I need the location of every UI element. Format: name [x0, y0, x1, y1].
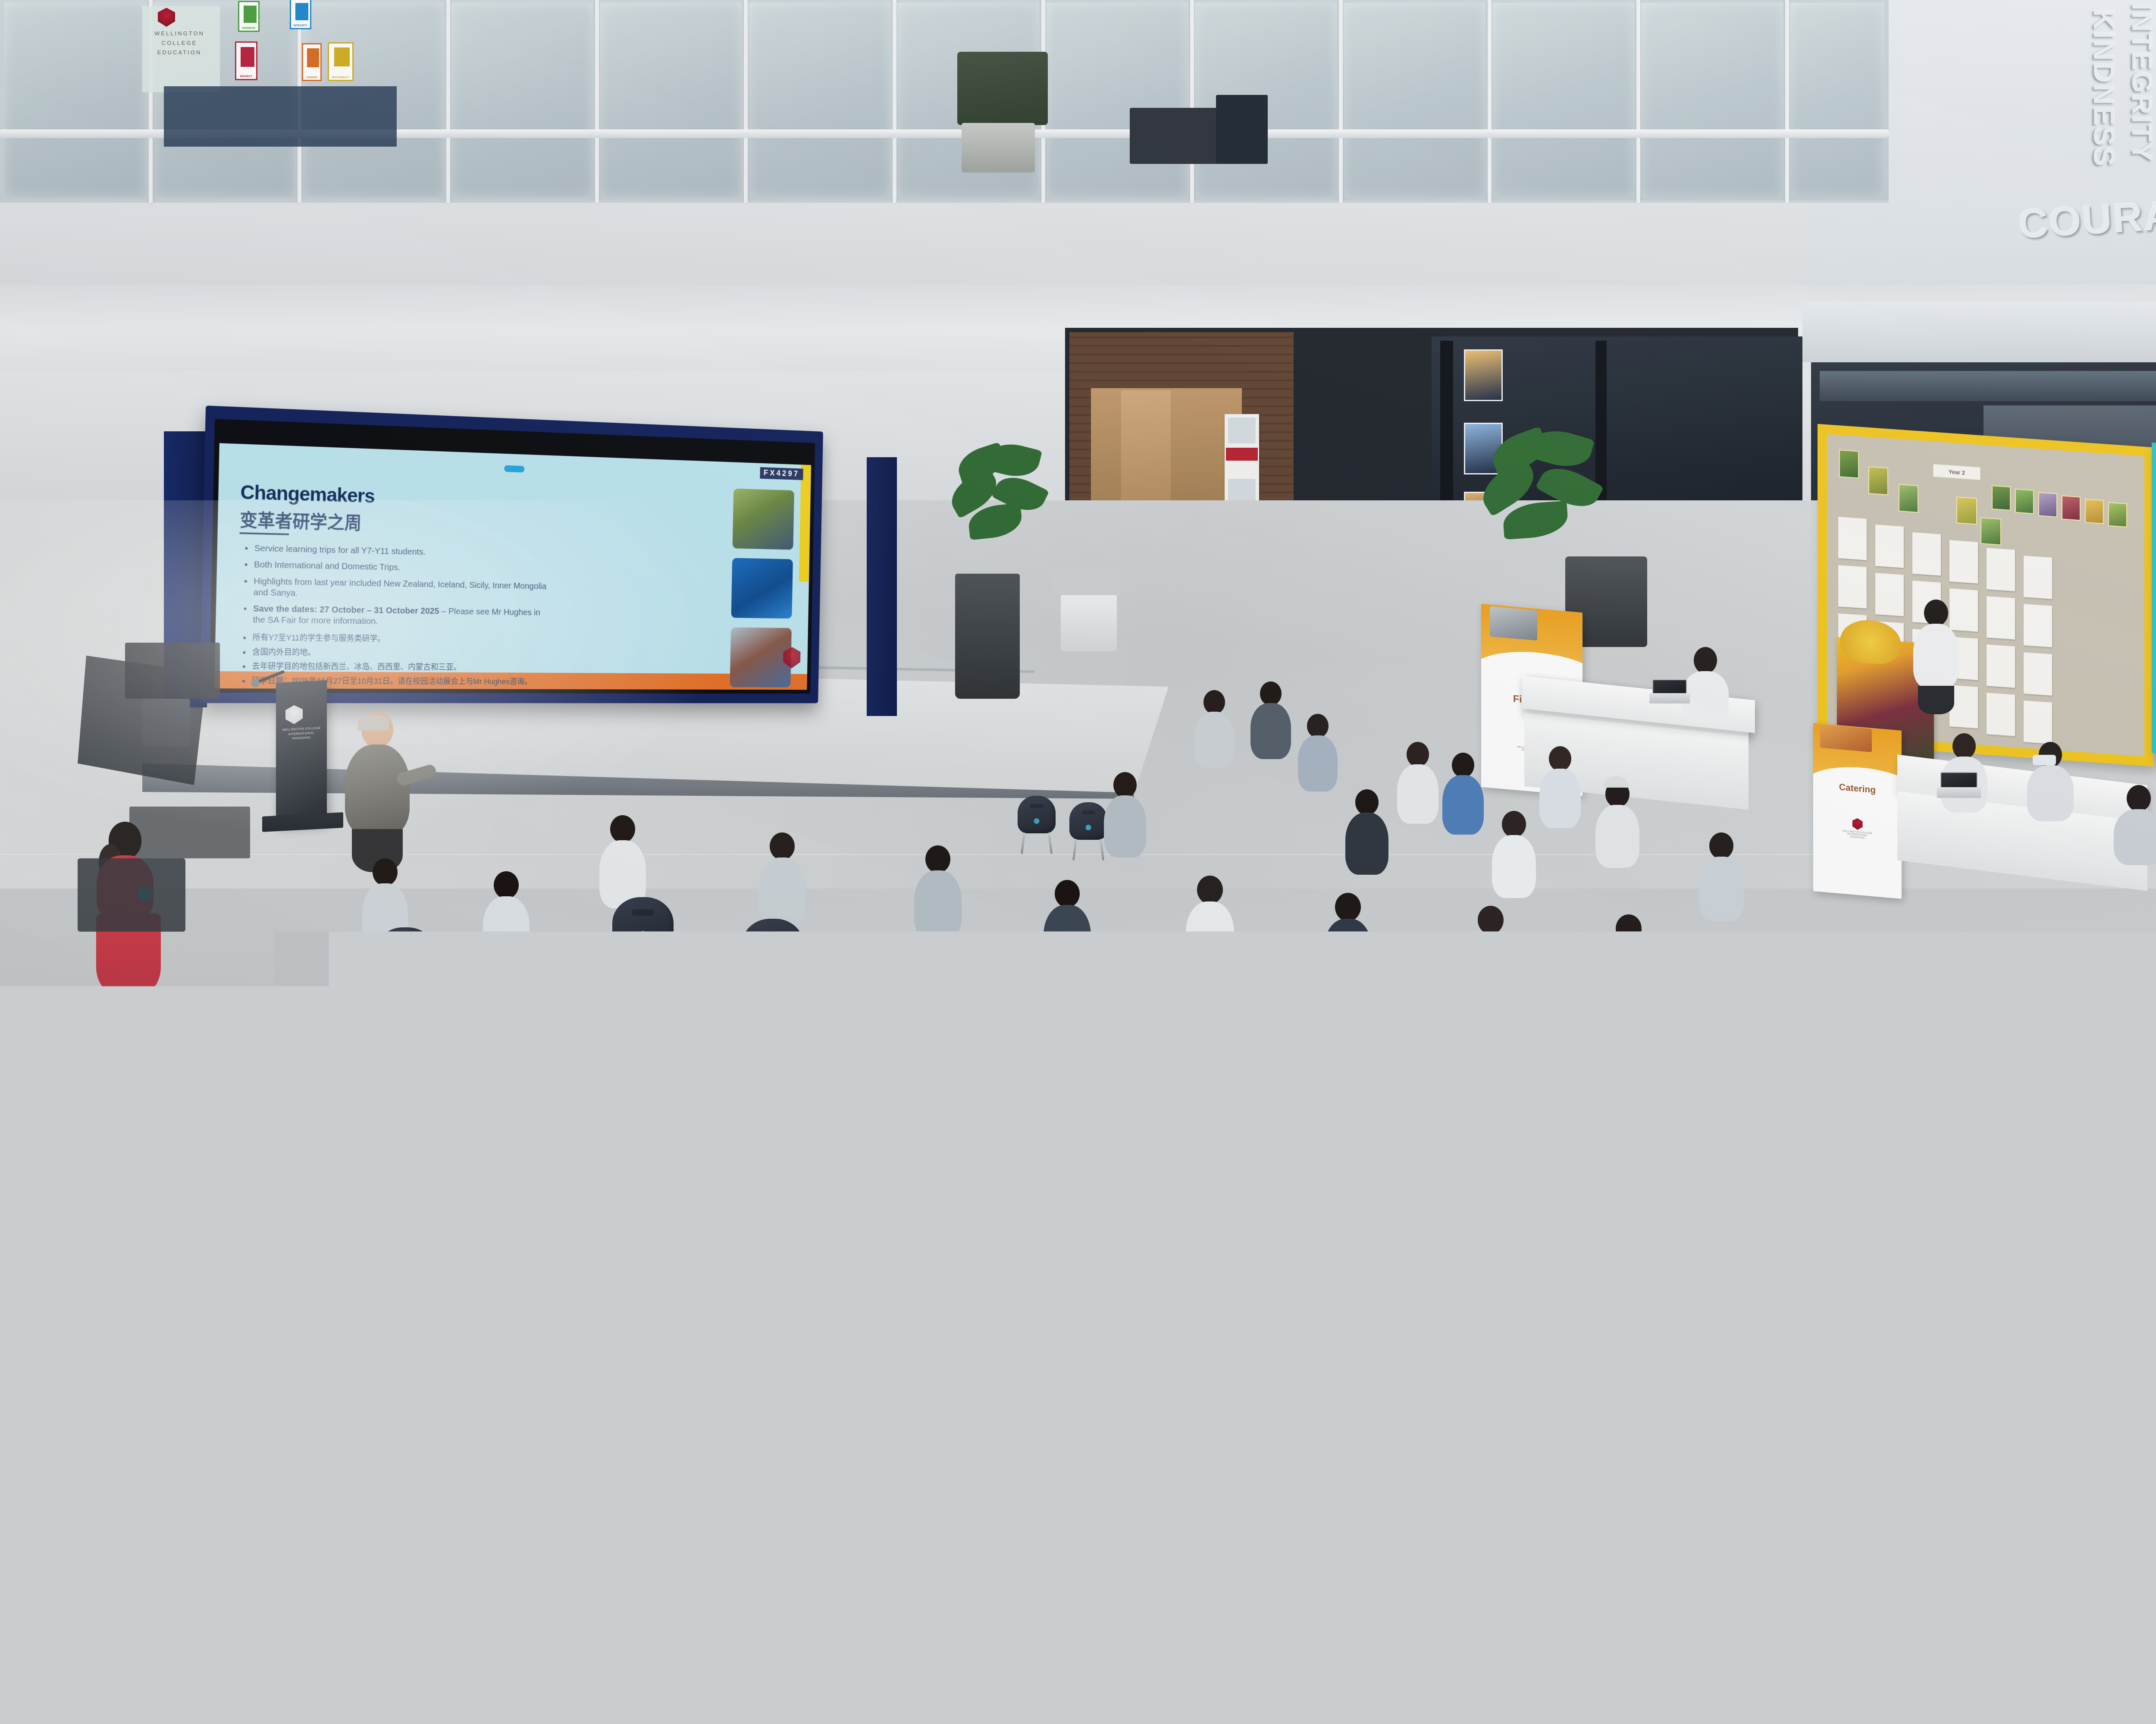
lectern-crest-text: WELLINGTON COLLEGE INTERNATIONAL HANGZHO…: [279, 726, 324, 742]
chair-yellow[interactable]: [1311, 1259, 1390, 1359]
lectern: WELLINGTON COLLEGE INTERNATIONAL HANGZHO…: [276, 680, 327, 825]
alcove-blue-panel: [164, 86, 397, 147]
slide-bullet-dates: Save the dates: 27 October – 31 October …: [242, 603, 548, 629]
av-equipment: [125, 643, 220, 699]
av-monitor: [142, 699, 190, 746]
chair-navy[interactable]: [880, 936, 943, 1015]
chair-yellow[interactable]: [1164, 1320, 1246, 1423]
brand-line-1: WELLINGTON: [145, 30, 214, 37]
slide-bullet-cn: 所有Y7至Y11的学生参与服务类研学。: [241, 633, 548, 646]
audience-member: [436, 962, 487, 1074]
slide-photo-rafting: [731, 558, 793, 619]
audience-member: [914, 845, 962, 947]
audience-member: [1699, 832, 1744, 927]
tote-bag-wellington: WELLINGTON: [414, 1070, 470, 1134]
pedestal-top: [1052, 574, 1121, 595]
value-poster-respect: RESPECT: [235, 41, 257, 80]
chair-yellow[interactable]: [1466, 1333, 1549, 1436]
backpack-dark: [1164, 1070, 1229, 1139]
laptop-upper-table: [1652, 679, 1687, 703]
slide-code-badge: FX4297: [760, 467, 803, 480]
floor-divider: [1350, 1600, 1651, 1605]
wall-letter-kindness: KINDNESS: [2087, 9, 2121, 167]
slide-bullets-english: Service learning trips for all Y7-Y11 st…: [242, 543, 550, 634]
board-label-year2: Year 2: [1933, 464, 1981, 480]
potted-plant-corridor: [1479, 431, 1608, 574]
staff-member-catering-table-2: [2027, 742, 2074, 828]
value-label: RESPECT: [236, 75, 256, 78]
audience-member: [759, 1065, 820, 1196]
chair-yellow[interactable]: [1009, 1350, 1094, 1456]
chair-navy[interactable]: [1307, 992, 1371, 1074]
tote-bag-wellington: WELLINGTON: [1992, 1354, 2057, 1430]
floor-bag-strap: [0, 1570, 39, 1656]
chair-navy[interactable]: [1423, 1057, 1492, 1143]
slide-bullet-cn: 含国内外目的地。: [241, 647, 548, 659]
visitor-by-flower-display: [1912, 600, 1960, 712]
slide-decor-pill: [504, 465, 524, 473]
laptop-catering-table: [1940, 772, 1977, 798]
slide-bullet: Highlights from last year included New Z…: [242, 575, 549, 603]
lectern-crest-icon: [285, 705, 303, 725]
audience-member: [1442, 753, 1484, 839]
audience-member: [1298, 714, 1338, 796]
briefcase: [2065, 1251, 2147, 1320]
audience-member: [1345, 789, 1388, 880]
upper-dark-panel: [1216, 95, 1268, 164]
chair-yellow[interactable]: [2061, 1048, 2136, 1142]
corridor-soffit: [1802, 302, 2156, 362]
chair-navy[interactable]: [987, 1203, 1062, 1297]
chair-navy[interactable]: [1276, 1139, 1348, 1228]
backpack-blue: [565, 1078, 638, 1160]
audience-member: [1708, 1070, 1763, 1187]
pillar-panel: [1121, 390, 1171, 518]
display-board-garden-grow: How Does Your Garden Grow?: [2152, 443, 2156, 778]
audience-member: [1324, 893, 1372, 995]
tote-bag-wellington: WELLINGTON: [1725, 1208, 1789, 1283]
chair-yellow[interactable]: [1130, 1484, 1221, 1598]
audience-member: [1492, 811, 1536, 903]
staff-member-catering-table-3: [2113, 785, 2156, 871]
chair-navy[interactable]: [1164, 975, 1229, 1057]
tent-sign-after-sales[interactable]: 售后区 AFTER SALES SERVICE: [1746, 1580, 1782, 1611]
chair-yellow[interactable]: [1759, 1126, 1833, 1217]
audience-member: [1992, 988, 2043, 1096]
value-poster-kindness: KINDNESS: [238, 1, 260, 32]
chair-navy[interactable]: [496, 953, 557, 1030]
slide-accent-strip-yellow: [799, 465, 811, 582]
slide-photo-service-trip: [733, 489, 794, 550]
brand-line-3: EDUCATION: [145, 49, 214, 56]
white-pedestal: [1061, 587, 1117, 651]
chair-navy[interactable]: [664, 1225, 740, 1320]
chair-yellow[interactable]: [949, 1536, 1041, 1652]
handbag: [384, 1130, 444, 1186]
corridor-rail-upper: [1820, 371, 2156, 401]
audience-member: [1250, 681, 1291, 763]
slide-bullet-cn: 去年研学目的地包括新西兰、冰岛、西西里、内蒙古和三亚。: [241, 662, 548, 674]
slide-bullet: Both International and Domestic Trips.: [243, 559, 549, 576]
banner-catering: Catering WELLINGTON COLLEGEINTERNATIONAL…: [1813, 723, 1902, 899]
slide-bullet-dates-bold: Save the dates: 27 October – 31 October …: [253, 604, 439, 616]
audience-member: [1466, 906, 1515, 1010]
brand-line-2: COLLEGE: [145, 40, 214, 46]
audience-member-foreground: [759, 1208, 832, 1363]
chair-navy[interactable]: [612, 897, 674, 974]
slide-title: Changemakers: [240, 480, 375, 508]
audience-member: [1380, 1143, 1443, 1277]
tote-bag-text: WELLINGTON: [439, 1082, 445, 1125]
chair-navy[interactable]: [1069, 802, 1107, 853]
value-poster-integrity: INTEGRITY: [290, 0, 311, 29]
wellington-brand-poster: WELLINGTON COLLEGE EDUCATION: [142, 6, 220, 92]
slide-bullet: Service learning trips for all Y7-Y11 st…: [243, 543, 549, 560]
audience-member: [1194, 690, 1234, 772]
audience-member: [1733, 940, 1783, 1046]
chair-navy[interactable]: [1022, 966, 1086, 1046]
audience-member: [759, 832, 805, 933]
presentation-screen[interactable]: FX4297 Changemakers 变革者研学之周 Service lear…: [203, 405, 888, 703]
audience-member: [1867, 962, 1917, 1068]
value-poster-courage: COURAGE: [302, 43, 322, 81]
audience-member: [1561, 1048, 1616, 1165]
plant-pot-stage-right: [955, 574, 1020, 699]
glass-balustrade-post: [1639, 1147, 1664, 1724]
upper-shelf: [1130, 108, 1229, 164]
slide-subtitle: 变革者研学之周: [240, 506, 362, 535]
value-label: RESPONSIBILITY: [329, 76, 352, 79]
potted-plant-upper: [957, 52, 1048, 125]
desk-staff-standing: [2104, 1484, 2156, 1678]
tote-bag-text: WELLINGTON: [1948, 1379, 1955, 1425]
chair-navy[interactable]: [837, 1182, 910, 1273]
audience-member: [2147, 1139, 2156, 1259]
value-label: INTEGRITY: [291, 25, 310, 27]
stage-case: [78, 858, 185, 932]
wellington-crest-icon: [158, 8, 175, 27]
chair-navy[interactable]: [681, 1070, 749, 1155]
face-mask-icon: [2033, 755, 2056, 765]
slide-content: FX4297 Changemakers 变革者研学之周 Service lear…: [214, 443, 811, 690]
audience-member: [1069, 1104, 1131, 1236]
backpack-black: [1514, 1182, 1591, 1268]
plant-pot-upper: [962, 123, 1035, 173]
value-poster-responsibility: RESPONSIBILITY: [328, 42, 354, 81]
audience-member: [1104, 772, 1146, 863]
value-label: COURAGE: [303, 76, 320, 79]
slide-photo-group: [730, 627, 791, 687]
audience-member: [914, 1083, 975, 1213]
chair-navy[interactable]: [375, 927, 436, 1003]
chair-navy[interactable]: [742, 919, 804, 996]
chair-navy[interactable]: [1018, 796, 1056, 847]
speaker-presenter: [345, 712, 410, 871]
tote-bag-wellington: WELLINGTON: [1919, 1363, 1984, 1438]
slide-bullets-chinese: 所有Y7至Y11的学生参与服务类研学。 含国内外目的地。 去年研学目的地包括新西…: [241, 633, 548, 690]
wall-letter-integrity: INTEGRITY: [2126, 3, 2156, 162]
chair-yellow[interactable]: [1328, 1428, 1416, 1538]
tote-bag-text: WELLINGTON: [2021, 1370, 2028, 1416]
tote-bag-text: WELLINGTON: [1754, 1224, 1761, 1270]
audience-member: [1595, 781, 1639, 873]
audience-member: [1397, 742, 1438, 828]
chair-yellow[interactable]: [1509, 1449, 1598, 1561]
floor-panel-left: [436, 1523, 720, 1724]
audience-member: [1604, 914, 1653, 1019]
chair-yellow[interactable]: [1419, 1536, 1512, 1653]
green-tote: [858, 1354, 918, 1415]
audience-member: [1539, 746, 1581, 832]
atrium-scene: HANGZH KINDNESS INTEGRITY RESPONSIBILITY…: [0, 0, 2156, 1724]
staff-member-upper-table: [1682, 647, 1729, 729]
corridor-framed-art: [1464, 349, 1503, 401]
chair-yellow[interactable]: [1897, 1147, 1971, 1240]
value-label: KINDNESS: [239, 27, 258, 30]
audience-member: [1186, 876, 1234, 978]
potted-plant-stage-right: [949, 444, 1048, 587]
